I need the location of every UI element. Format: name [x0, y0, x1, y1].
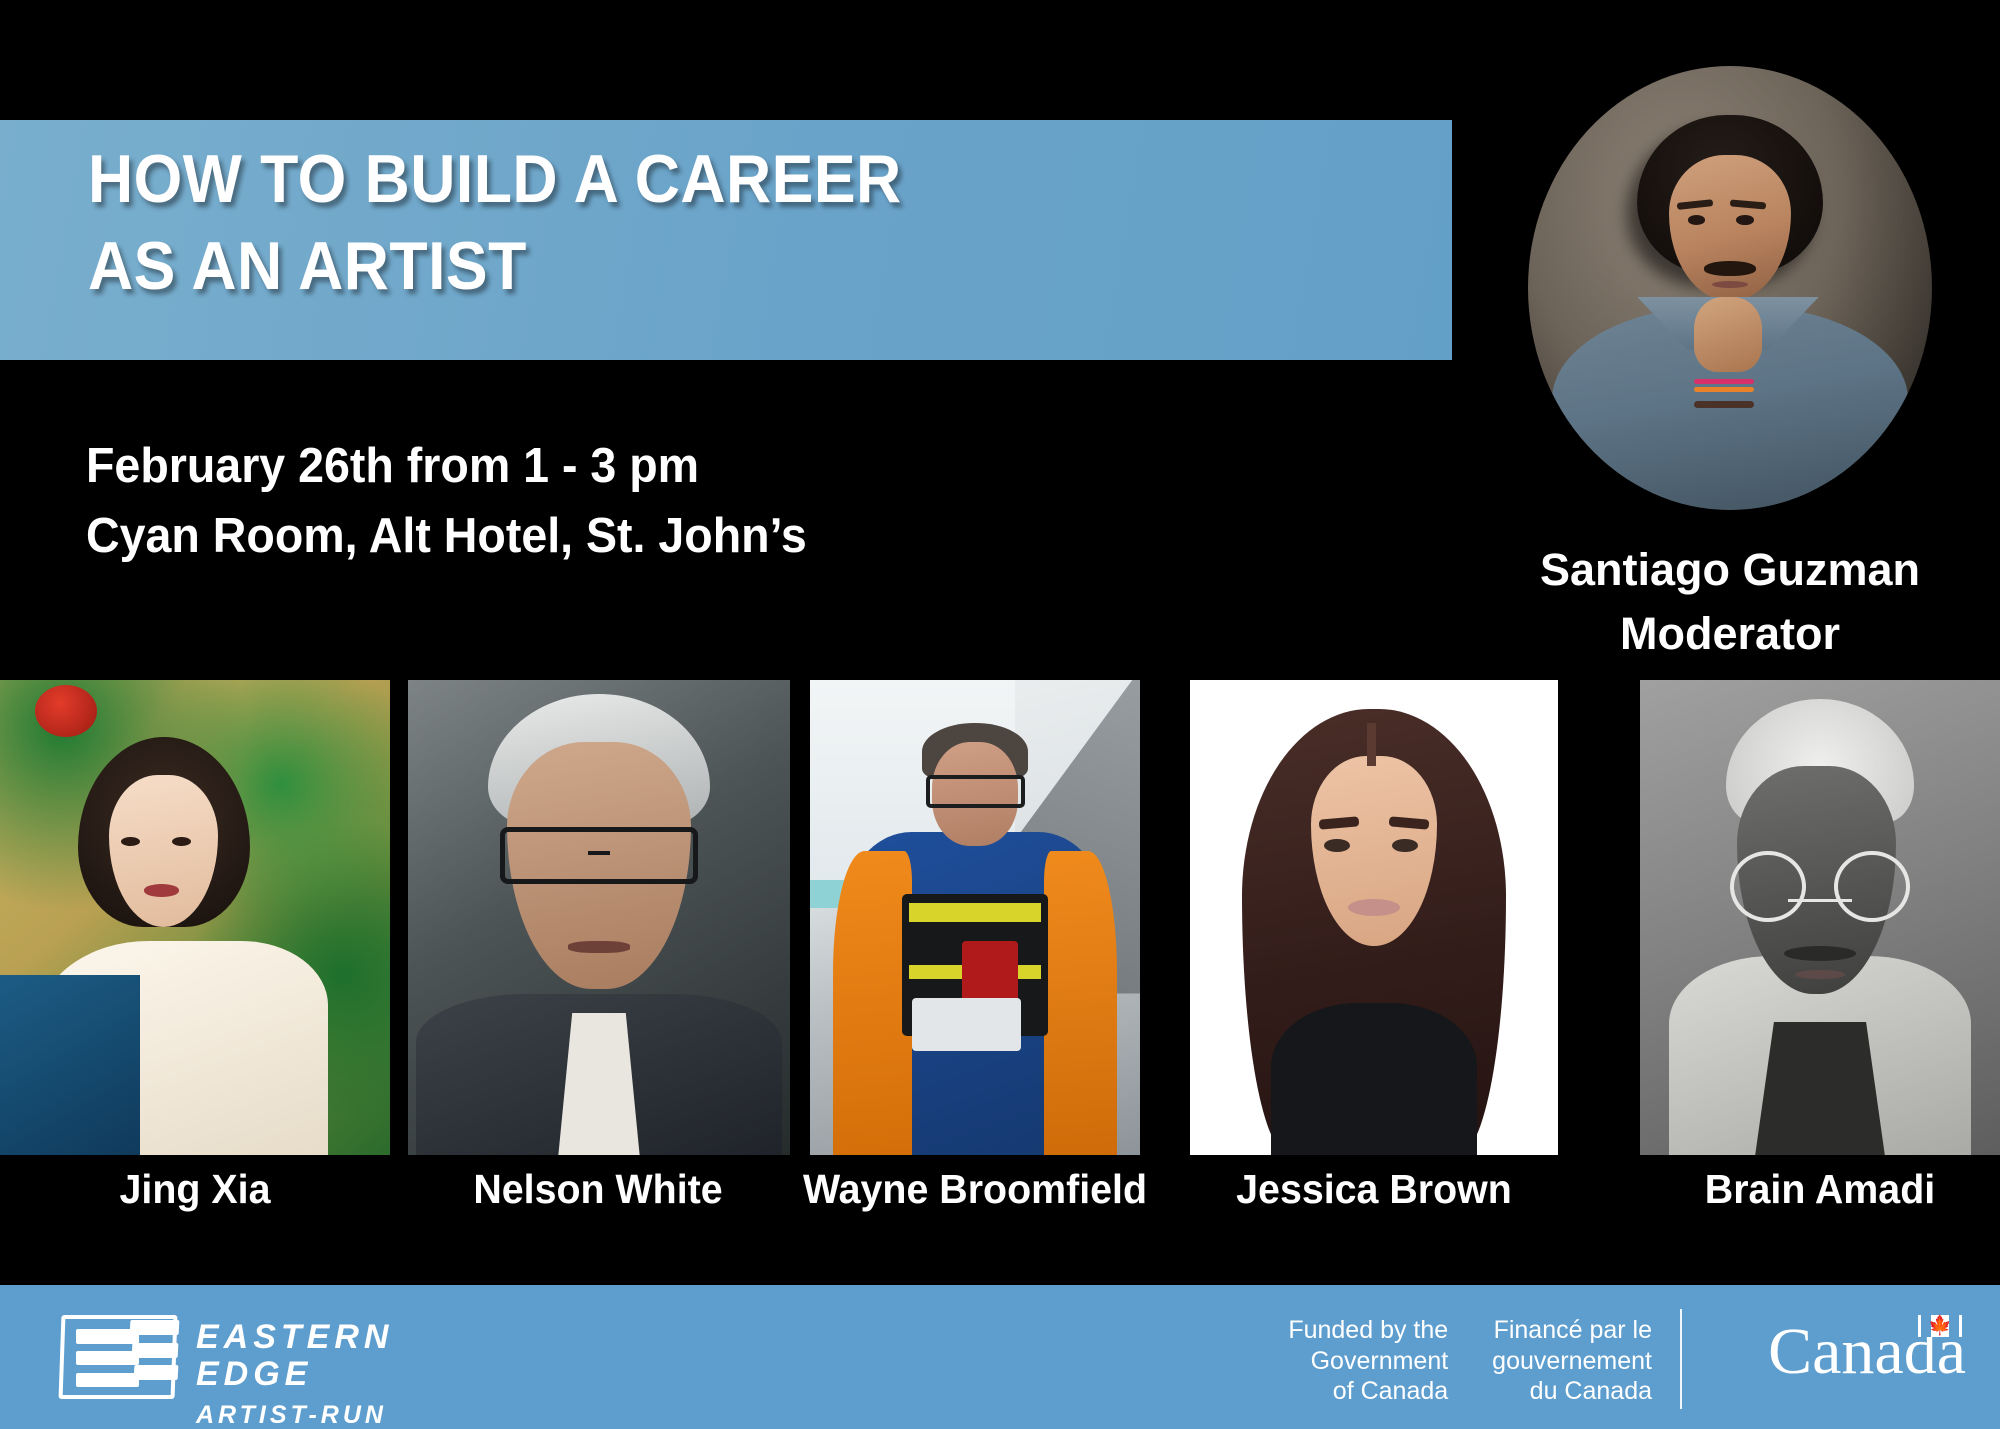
maple-leaf-icon: 🍁: [1928, 1317, 1952, 1336]
org-name: EASTERN EDGE: [196, 1319, 500, 1394]
event-details: February 26th from 1 - 3 pm Cyan Room, A…: [86, 432, 1321, 571]
logo-bar: [129, 1320, 179, 1335]
panelist-photo-row: [0, 680, 2000, 1155]
panelist-name-row: Jing Xia Nelson White Wayne Broomfield J…: [0, 1166, 2000, 1236]
footer-divider: [1680, 1309, 1682, 1409]
panelist-photo-nelson-white: [408, 680, 790, 1155]
hand-shape: [1694, 297, 1763, 372]
glasses-shape: [500, 827, 699, 884]
panelist-photo-jessica-brown: [1190, 680, 1558, 1155]
bracelet-pink: [1694, 379, 1755, 384]
logo-bar: [132, 1343, 179, 1358]
lens-right: [1834, 851, 1910, 922]
moderator-portrait: [1528, 66, 1932, 510]
photo-artwork: [408, 680, 790, 1155]
page-title: HOW TO BUILD A CAREER AS AN ARTIST: [88, 136, 1321, 310]
moderator-role: Moderator: [1460, 602, 2000, 666]
instrument-shape: [0, 975, 140, 1156]
photo-artwork: [1640, 680, 2000, 1155]
logo-bar: [76, 1351, 139, 1365]
panelist-name: Brain Amadi: [1628, 1166, 2000, 1213]
bracelet-orange: [1694, 387, 1755, 392]
lips-shape: [1348, 899, 1400, 916]
face-shape: [1669, 155, 1790, 302]
sleeve-right: [1044, 851, 1117, 1155]
berry-shape: [35, 685, 97, 737]
panelist-name: Nelson White: [406, 1166, 790, 1213]
eastern-edge-logo: EASTERN EDGE ARTIST-RUN CENTRE: [60, 1311, 500, 1403]
panelist-name: Jessica Brown: [1188, 1166, 1560, 1213]
canada-flag-icon: 🍁: [1918, 1315, 1962, 1337]
event-venue: Cyan Room, Alt Hotel, St. John’s: [86, 502, 1321, 572]
harness-strap-upper: [909, 903, 1041, 922]
lens-left: [1730, 851, 1806, 922]
funding-text-en: Funded by the Government of Canada: [1288, 1315, 1448, 1407]
portrait-artwork: [1528, 66, 1932, 510]
photo-artwork: [1190, 680, 1558, 1155]
mouth-shape: [568, 941, 629, 952]
moustache-shape: [1704, 261, 1757, 275]
eye-left: [1688, 215, 1706, 225]
event-poster: HOW TO BUILD A CAREER AS AN ARTIST Febru…: [0, 0, 2000, 1429]
canada-wordmark: Canada 🍁: [1768, 1319, 1966, 1385]
panelist-name: Jing Xia: [8, 1166, 382, 1213]
event-date-time: February 26th from 1 - 3 pm: [86, 432, 1321, 502]
photo-artwork: [0, 680, 390, 1155]
panelist-name: Wayne Broomfield: [797, 1166, 1152, 1213]
glasses-bridge: [1788, 899, 1853, 902]
logo-bar: [76, 1373, 139, 1387]
lips-shape: [144, 884, 179, 896]
footer-bar: EASTERN EDGE ARTIST-RUN CENTRE Funded by…: [0, 1285, 2000, 1429]
panelist-photo-jing-xia: [0, 680, 390, 1155]
glasses-shape: [926, 775, 1025, 808]
panelist-photo-wayne-broomfield: [810, 680, 1140, 1155]
eastern-edge-wordmark: EASTERN EDGE ARTIST-RUN CENTRE: [196, 1319, 500, 1429]
panelist-photo-brain-amadi: [1640, 680, 2000, 1155]
glasses-bridge: [588, 851, 611, 855]
eye-right: [1736, 215, 1754, 225]
title-line-1: HOW TO BUILD A CAREER: [88, 136, 1321, 223]
moderator-caption: Santiago Guzman Moderator: [1460, 538, 2000, 666]
moderator-name: Santiago Guzman: [1460, 538, 2000, 602]
funding-credit: Funded by the Government of Canada Finan…: [1288, 1315, 1652, 1407]
hair-part: [1367, 723, 1376, 766]
turtleneck-shape: [1271, 1003, 1477, 1155]
logo-bar: [134, 1365, 179, 1380]
org-tagline: ARTIST-RUN CENTRE: [196, 1402, 500, 1429]
glasses-shape: [1730, 851, 1910, 922]
funding-text-fr: Financé par le gouvernement du Canada: [1492, 1315, 1652, 1407]
eastern-edge-mark-icon: [60, 1315, 176, 1399]
photo-artwork: [810, 680, 1140, 1155]
chest-pack-shape: [912, 998, 1021, 1050]
title-line-2: AS AN ARTIST: [88, 223, 1321, 310]
sleeve-left: [833, 851, 912, 1155]
bracelet-leather: [1694, 401, 1755, 408]
